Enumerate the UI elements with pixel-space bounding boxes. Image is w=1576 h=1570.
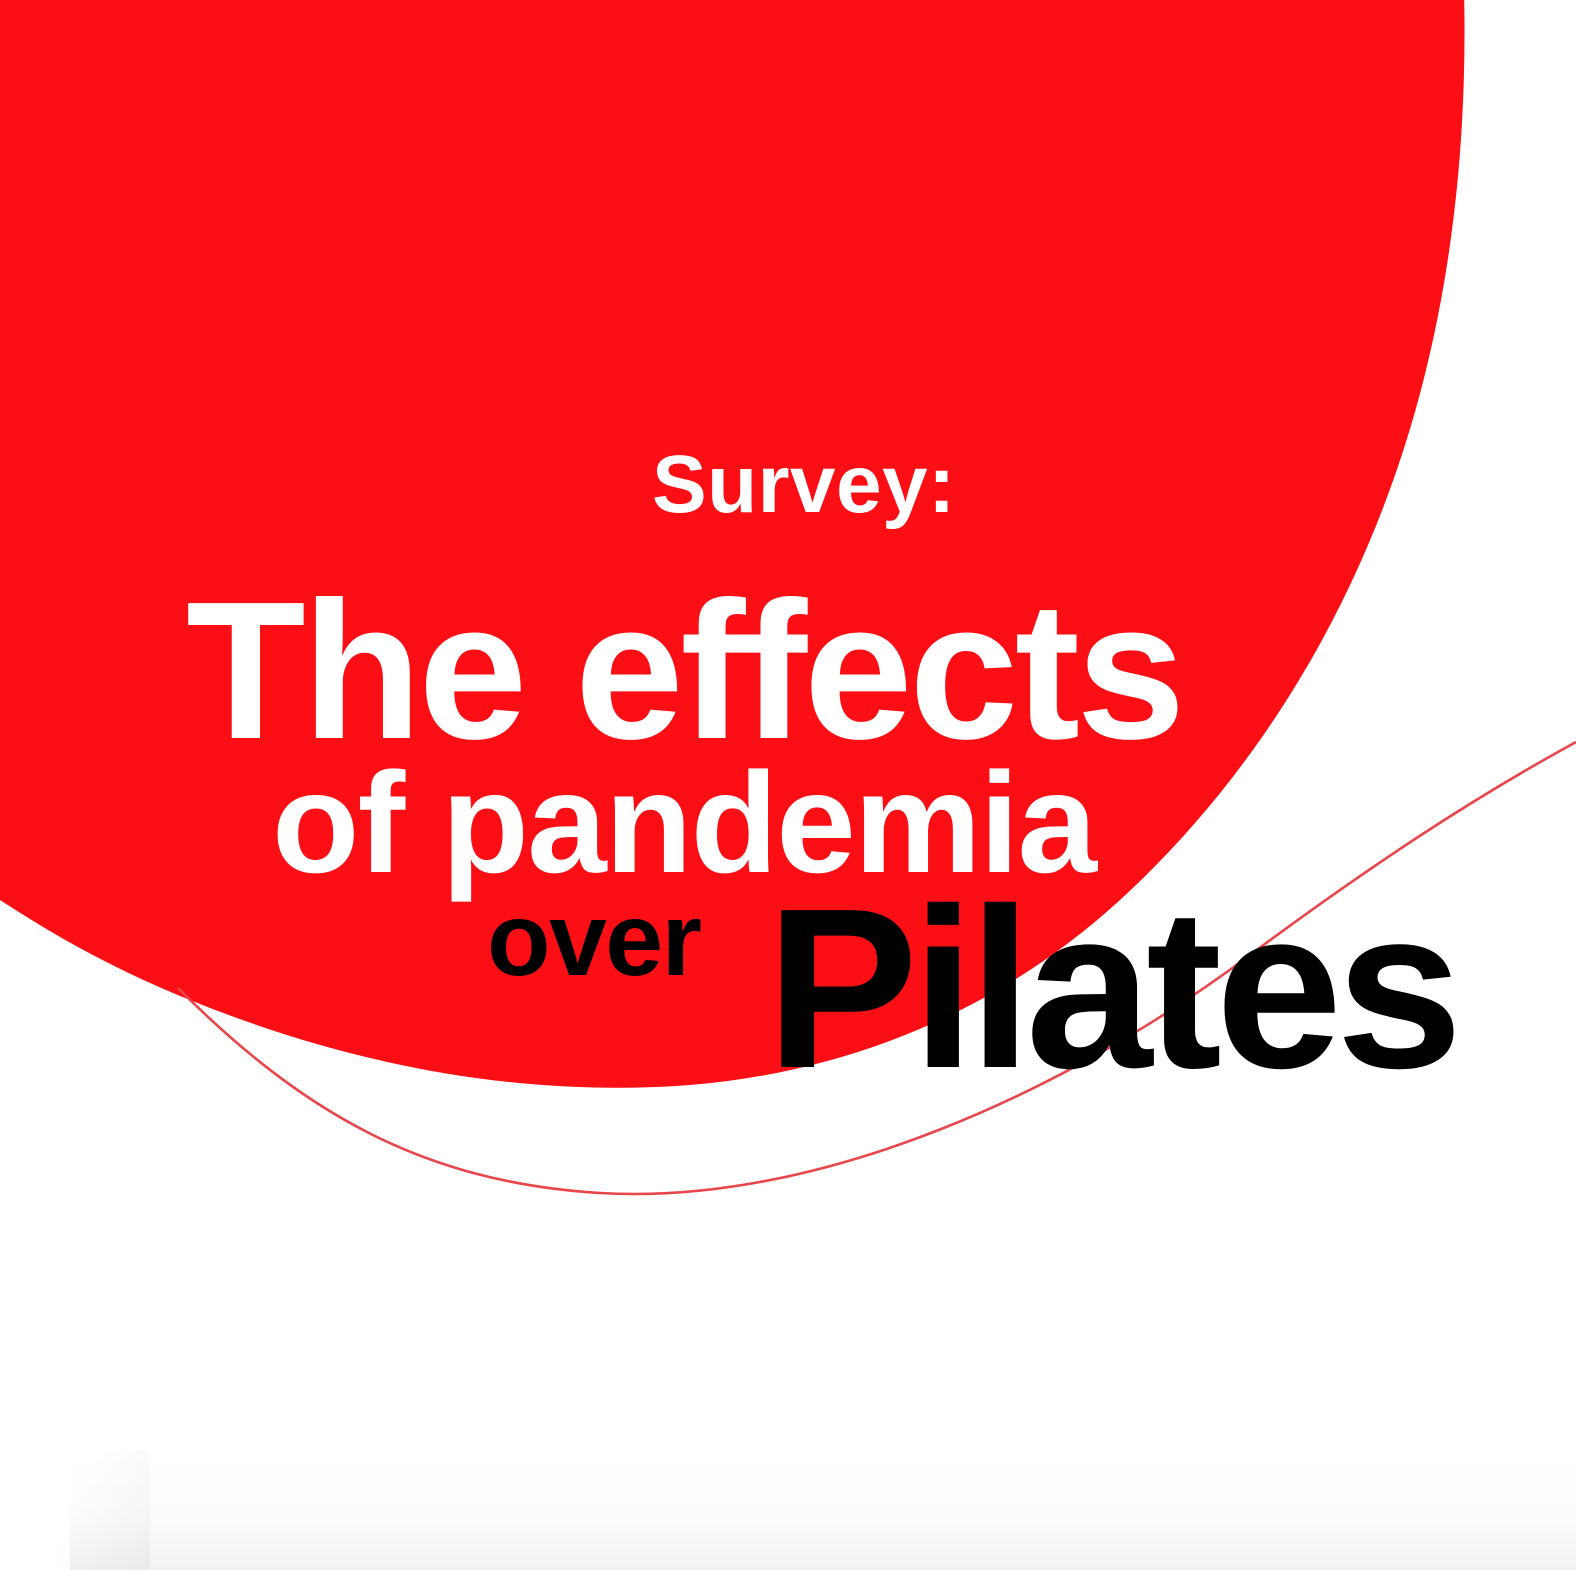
red-curved-shape — [0, 0, 1465, 1088]
title-slide: Survey: The effects of pandemia over Pil… — [0, 0, 1576, 1570]
background-artwork — [0, 0, 1576, 1570]
